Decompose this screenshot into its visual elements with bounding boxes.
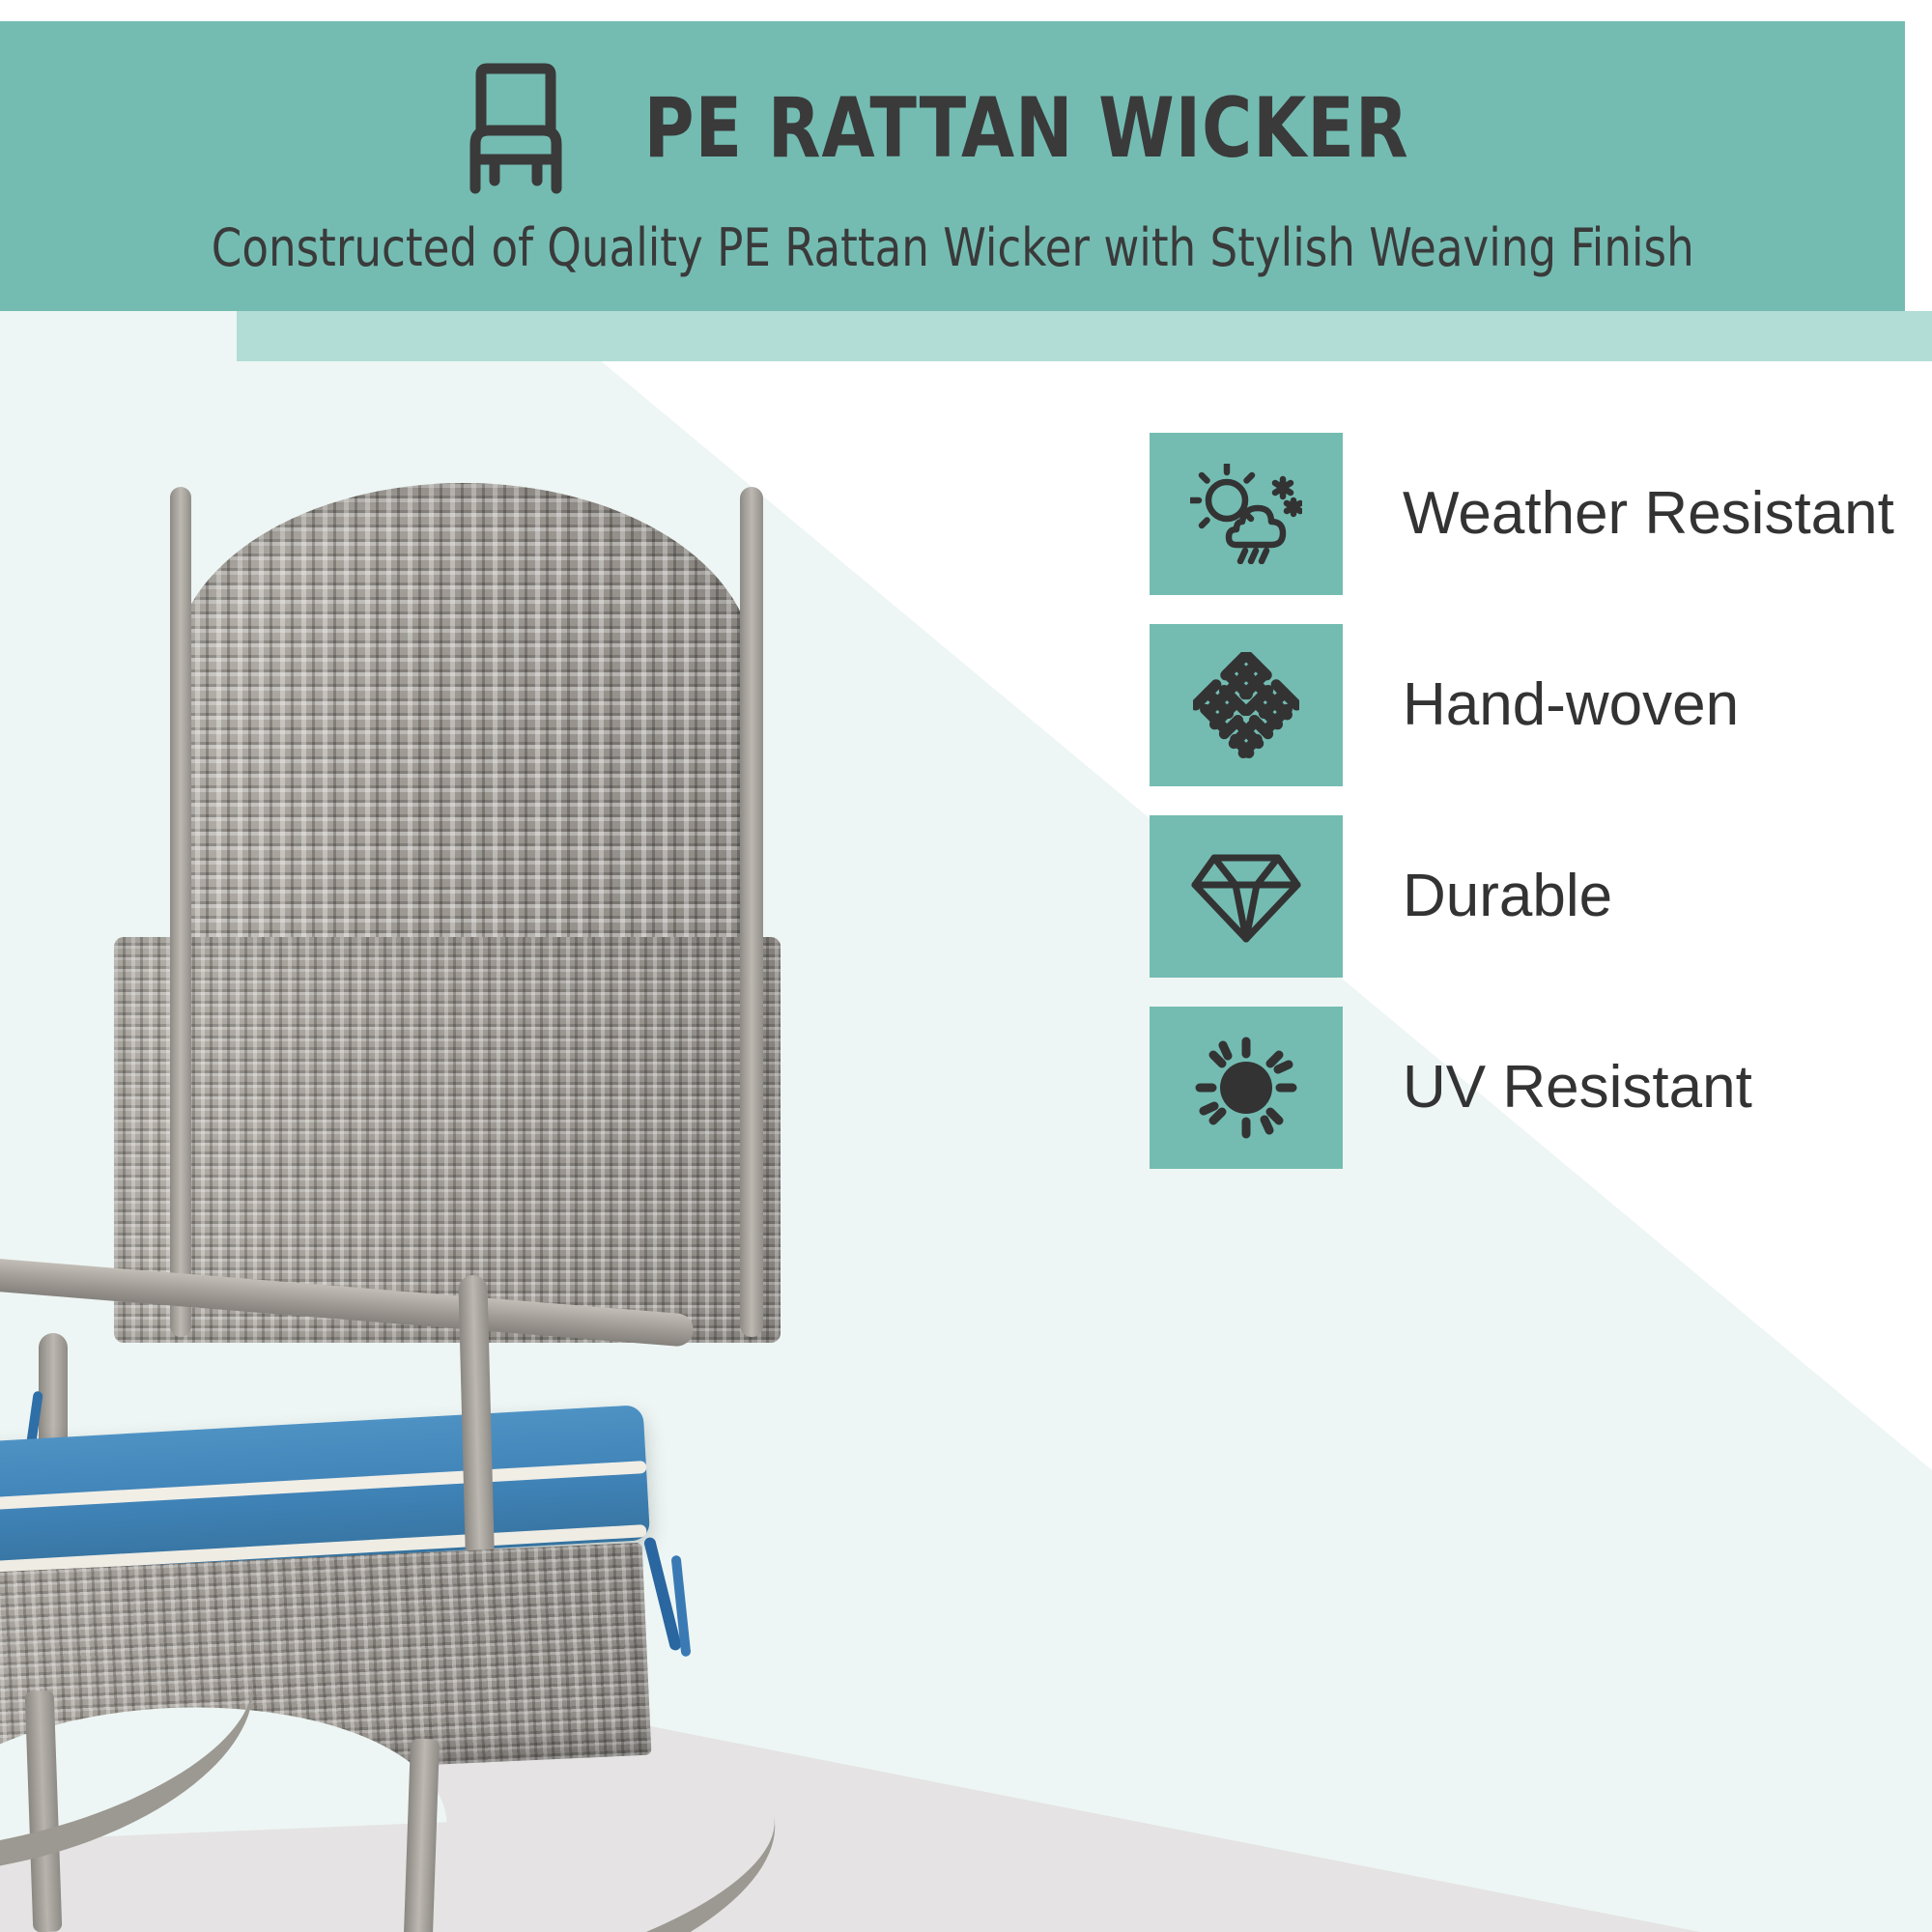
woven-basketweave-icon xyxy=(1193,652,1299,758)
feature-icon-tile xyxy=(1150,433,1343,595)
feature-item-hand-woven: Hand-woven xyxy=(1150,624,1932,786)
chair-back-frame-left xyxy=(170,487,191,1337)
diamond-gem-icon xyxy=(1189,848,1303,945)
page-title: PE RATTAN WICKER xyxy=(644,87,1409,170)
feature-icon-tile xyxy=(1150,815,1343,978)
feature-item-durable: Durable xyxy=(1150,815,1932,978)
feature-item-weather-resistant: Weather Resistant xyxy=(1150,433,1932,595)
header-subtitle: Constructed of Quality PE Rattan Wicker … xyxy=(212,221,1694,276)
chair-back-frame-right xyxy=(740,487,763,1337)
top-white-margin xyxy=(0,0,1932,21)
product-image-rocking-chair xyxy=(0,483,966,1864)
infographic-canvas: PE RATTAN WICKER Constructed of Quality … xyxy=(0,0,1932,1932)
header-title-row: PE RATTAN WICKER xyxy=(462,61,1442,196)
header-accent-strip xyxy=(237,311,1932,361)
feature-label: Durable xyxy=(1403,867,1612,926)
header-content: PE RATTAN WICKER Constructed of Quality … xyxy=(0,21,1905,311)
feature-label: Weather Resistant xyxy=(1403,484,1894,544)
weather-cloud-sun-snow-icon xyxy=(1190,464,1302,564)
feature-list: Weather Resistant xyxy=(1150,433,1932,1198)
chair-icon xyxy=(462,61,570,196)
feature-icon-tile xyxy=(1150,1007,1343,1169)
feature-item-uv-resistant: UV Resistant xyxy=(1150,1007,1932,1169)
feature-icon-tile xyxy=(1150,624,1343,786)
feature-label: Hand-woven xyxy=(1403,675,1739,735)
feature-label: UV Resistant xyxy=(1403,1058,1752,1118)
sun-icon xyxy=(1194,1036,1298,1140)
